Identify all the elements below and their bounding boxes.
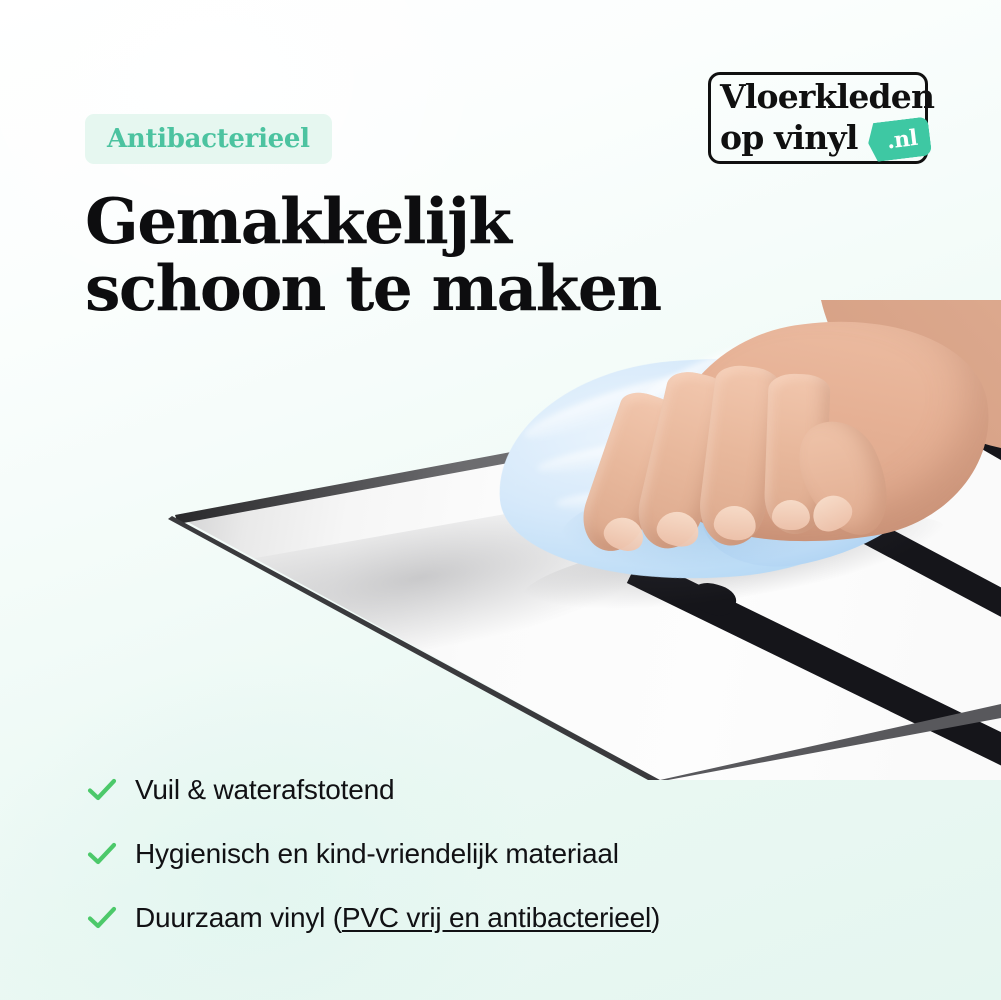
feature-list: Vuil & waterafstotend Hygienisch en kind… [85,758,915,950]
list-item: Duurzaam vinyl (PVC vrij en antibacterie… [85,886,915,950]
logo-tld-label: .nl [866,116,932,162]
feature-text-link[interactable]: PVC vrij en antibacterieel [342,902,651,933]
feature-text-pre: Duurzaam vinyl ( [135,902,342,933]
logo-line-1: Vloerkleden [720,76,950,117]
list-item: Vuil & waterafstotend [85,758,915,822]
check-icon [85,901,119,935]
headline-line-2: schoon te maken [85,255,705,322]
feature-label: Vuil & waterafstotend [135,774,394,806]
antibacterial-badge-label: Antibacterieel [107,124,310,154]
page-title: Gemakkelijk schoon te maken [85,188,705,322]
list-item: Hygienisch en kind-vriendelijk materiaal [85,822,915,886]
feature-text-post: ) [651,902,660,933]
headline-line-1: Gemakkelijk [85,188,705,255]
check-icon [85,837,119,871]
feature-text: Vuil & waterafstotend [135,774,394,805]
brand-logo[interactable]: Vloerkleden op vinyl .nl [708,72,938,170]
feature-label: Hygienisch en kind-vriendelijk materiaal [135,838,619,870]
antibacterial-badge: Antibacterieel [85,114,332,164]
feature-label: Duurzaam vinyl (PVC vrij en antibacterie… [135,902,660,934]
logo-tld-tag: .nl [866,116,932,162]
product-photo [0,300,1001,780]
promo-banner: Vloerkleden op vinyl .nl Antibacterieel … [0,0,1001,1000]
check-icon [85,773,119,807]
feature-text: Hygienisch en kind-vriendelijk materiaal [135,838,619,869]
